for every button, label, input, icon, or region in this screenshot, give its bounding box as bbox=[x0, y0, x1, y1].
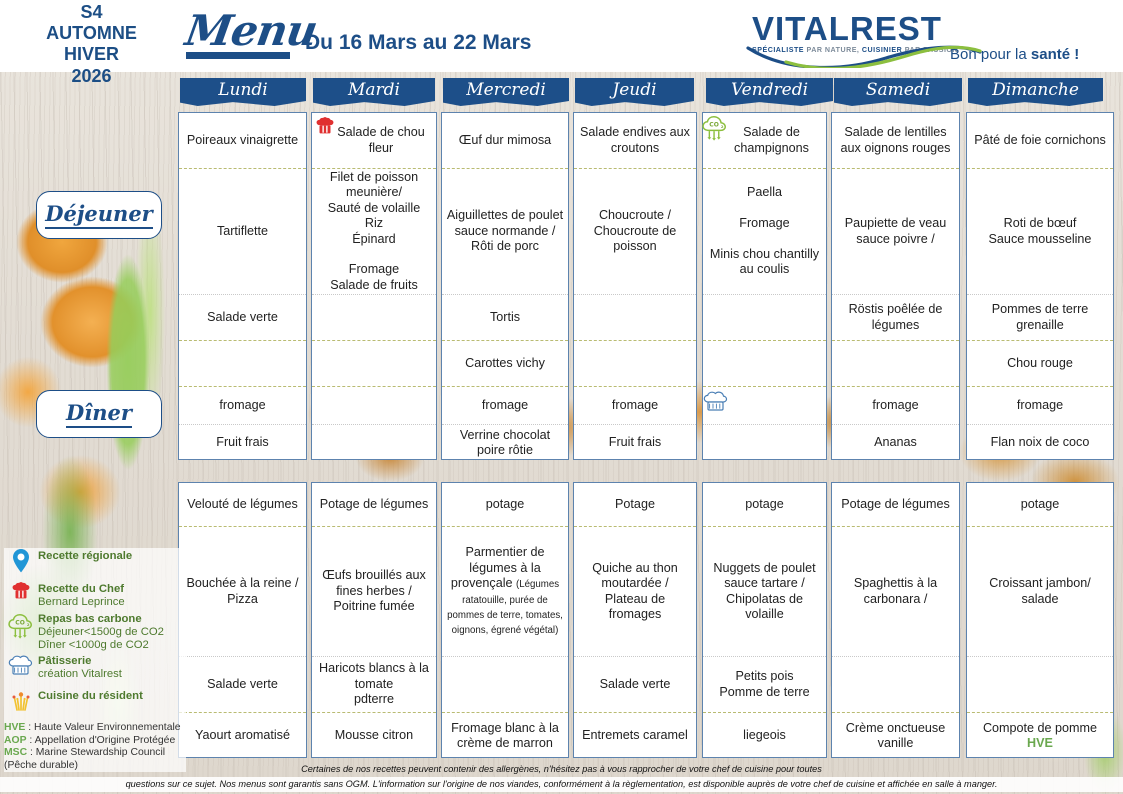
dinner-cell: Mousse citron bbox=[312, 713, 436, 759]
lunch-cell-text: Fruit frais bbox=[216, 435, 268, 450]
lunch-cell-text: Verrine chocolat poire rôtie bbox=[445, 428, 565, 459]
lunch-cell bbox=[312, 387, 436, 425]
lunch-cell: Œuf dur mimosa bbox=[442, 113, 568, 169]
pastry-icon bbox=[6, 668, 36, 685]
dinner-cell-text bbox=[503, 677, 507, 691]
dinner-cell: potage bbox=[442, 483, 568, 527]
season-line-4: 2026 bbox=[24, 66, 159, 87]
lunch-cell-text bbox=[633, 356, 637, 371]
legend-item-label: Pâtisseriecréation Vitalrest bbox=[38, 653, 122, 681]
lunch-cell-text: Fruit frais bbox=[609, 435, 661, 450]
lunch-cell-text bbox=[763, 356, 767, 371]
dinner-cell-text bbox=[1038, 677, 1042, 691]
co2-low-carbon-icon: CO 2 bbox=[5, 628, 37, 645]
dinner-cell bbox=[832, 657, 959, 713]
lunch-cell-text bbox=[372, 310, 376, 325]
day-header-samedi: Samedi bbox=[834, 78, 962, 106]
footer-line-1: Certaines de nos recettes peuvent conten… bbox=[0, 763, 1123, 776]
lunch-column-lundi: Poireaux vinaigretteTartifletteSalade ve… bbox=[178, 112, 307, 460]
lunch-cell: Paupiette de veau sauce poivre / bbox=[832, 169, 959, 295]
dinner-cell-text: Haricots blancs à la tomatepdterre bbox=[319, 661, 429, 706]
co2-low-carbon-icon-wrapper: CO 2 bbox=[4, 611, 38, 646]
page-title: Menu bbox=[182, 6, 320, 55]
lunch-cell-text: Pommes de terre grenaille bbox=[970, 302, 1110, 333]
dinner-cell-text: Bouchée à la reine / Pizza bbox=[186, 576, 298, 605]
date-range: Du 16 Mars au 22 Mars bbox=[305, 31, 531, 55]
day-header-mardi: Mardi bbox=[313, 78, 435, 106]
lunch-cell bbox=[312, 295, 436, 341]
tagline-plain: Bon pour la bbox=[950, 46, 1031, 63]
svg-text:CO: CO bbox=[709, 121, 719, 128]
resident-cooking-icon bbox=[8, 688, 34, 714]
dinner-cell: Potage de légumes bbox=[832, 483, 959, 527]
dinner-cell: potage bbox=[967, 483, 1113, 527]
lunch-cell: Filet de poisson meunière/Sauté de volai… bbox=[312, 169, 436, 295]
dinner-column-mardi: Potage de légumesŒufs brouillés aux fine… bbox=[311, 482, 437, 758]
dinner-cell-text: Crème onctueuse vanille bbox=[846, 721, 945, 750]
svg-text:2: 2 bbox=[27, 623, 30, 627]
lunch-cell-text bbox=[763, 435, 767, 450]
dinner-cell bbox=[442, 657, 568, 713]
lunch-cell-text bbox=[372, 435, 376, 450]
title-underline bbox=[186, 52, 290, 59]
dinner-cell-text: Salade verte bbox=[207, 677, 278, 691]
dinner-cell-text: Nuggets de poulet sauce tartare /Chipola… bbox=[713, 561, 815, 621]
dinner-cell: Potage bbox=[574, 483, 696, 527]
dinner-cell: Parmentier de légumes à la provençale (L… bbox=[442, 527, 568, 657]
dinner-cell: Salade verte bbox=[574, 657, 696, 713]
legend-abbreviation-key: AOP bbox=[4, 735, 27, 746]
lunch-cell-text: Tartiflette bbox=[217, 224, 268, 239]
meal-label-dinner-text: Dîner bbox=[66, 400, 132, 428]
lunch-cell bbox=[703, 295, 826, 341]
legend-item: Recette régionale bbox=[4, 548, 186, 579]
lunch-cell: fromage bbox=[442, 387, 568, 425]
dinner-cell: Entremets caramel bbox=[574, 713, 696, 759]
lunch-cell: Flan noix de coco bbox=[967, 425, 1113, 461]
lunch-cell-text: Salade verte bbox=[207, 310, 278, 325]
lunch-cell: Salade de chou fleur bbox=[312, 113, 436, 169]
dinner-cell: potage bbox=[703, 483, 826, 527]
season-line-2: AUTOMNE bbox=[24, 23, 159, 44]
lunch-cell-text: Chou rouge bbox=[1007, 356, 1073, 371]
legend-item: CO 2 Repas bas carboneDéjeuner<1500g de … bbox=[4, 611, 186, 652]
lunch-cell: Fruit frais bbox=[179, 425, 306, 461]
dinner-cell-text: Compote de pomme bbox=[983, 721, 1097, 735]
legend-abbreviation: AOP : Appellation d'Origine Protégée bbox=[4, 735, 186, 747]
lunch-cell-text: fromage bbox=[872, 398, 918, 413]
legend-abbreviation: HVE : Haute Valeur Environnementale bbox=[4, 722, 186, 734]
dinner-cell-text: Potage bbox=[615, 497, 655, 511]
lunch-cell-text: Flan noix de coco bbox=[991, 435, 1090, 450]
location-pin-icon bbox=[10, 548, 32, 574]
lunch-cell bbox=[179, 341, 306, 387]
vitalrest-logo: VITALREST SPÉCIALISTE PAR NATURE, CUISIN… bbox=[752, 12, 982, 62]
dinner-cell: Potage de légumes bbox=[312, 483, 436, 527]
dinner-cell: Croissant jambon/ salade bbox=[967, 527, 1113, 657]
lunch-cell: Carottes vichy bbox=[442, 341, 568, 387]
dinner-cell-text: Croissant jambon/ salade bbox=[989, 576, 1091, 605]
svg-text:2: 2 bbox=[721, 125, 724, 129]
dinner-cell: Velouté de légumes bbox=[179, 483, 306, 527]
dinner-cell-text: liegeois bbox=[743, 728, 786, 742]
lunch-cell: fromage bbox=[967, 387, 1113, 425]
dinner-cell: Spaghettis à la carbonara / bbox=[832, 527, 959, 657]
lunch-cell-text: Poireaux vinaigrette bbox=[187, 133, 298, 148]
dinner-cell-text: potage bbox=[1021, 497, 1060, 511]
day-header-vendredi: Vendredi bbox=[706, 78, 833, 106]
lunch-column-vendredi: CO 2 Salade de champignonsPaella Fromage… bbox=[702, 112, 827, 460]
dinner-cell: Crème onctueuse vanille bbox=[832, 713, 959, 759]
dinner-column-jeudi: PotageQuiche au thon moutardée /Plateau … bbox=[573, 482, 697, 758]
brand-tagline: Bon pour la santé ! bbox=[950, 46, 1079, 63]
chef-recipe-icon bbox=[10, 590, 32, 607]
dinner-cell-text: Yaourt aromatisé bbox=[195, 728, 290, 742]
svg-text:CO: CO bbox=[15, 619, 25, 626]
lunch-cell: Salade de lentilles aux oignons rouges bbox=[832, 113, 959, 169]
lunch-cell: Tartiflette bbox=[179, 169, 306, 295]
chef-recipe-icon bbox=[314, 116, 336, 142]
dinner-cell: liegeois bbox=[703, 713, 826, 759]
chef-recipe-icon-wrapper bbox=[4, 581, 38, 608]
tagline-bold: santé ! bbox=[1031, 46, 1079, 63]
lunch-cell bbox=[312, 425, 436, 461]
lunch-cell-text: Tortis bbox=[490, 310, 520, 325]
lunch-column-jeudi: Salade endives aux croutonsChoucroute /C… bbox=[573, 112, 697, 460]
dinner-cell-text: Quiche au thon moutardée /Plateau de fro… bbox=[592, 561, 677, 621]
day-header-mercredi: Mercredi bbox=[443, 78, 569, 106]
lunch-cell-text: Filet de poisson meunière/Sauté de volai… bbox=[315, 170, 433, 293]
lunch-cell: Chou rouge bbox=[967, 341, 1113, 387]
lunch-cell bbox=[574, 295, 696, 341]
dinner-column-mercredi: potageParmentier de légumes à la provenç… bbox=[441, 482, 569, 758]
season-block: S4 AUTOMNE HIVER 2026 bbox=[24, 2, 159, 87]
lunch-cell-text: fromage bbox=[482, 398, 528, 413]
lunch-cell bbox=[703, 341, 826, 387]
day-header-jeudi: Jeudi bbox=[575, 78, 694, 106]
lunch-cell: Paella Fromage Minis chou chantilly au c… bbox=[703, 169, 826, 295]
legend-abbreviation-key: MSC bbox=[4, 747, 27, 758]
dinner-cell-text: Mousse citron bbox=[335, 728, 413, 742]
dinner-cell-text: Entremets caramel bbox=[582, 728, 688, 742]
lunch-cell-text bbox=[372, 356, 376, 371]
lunch-cell bbox=[703, 425, 826, 461]
dinner-column-vendredi: potageNuggets de poulet sauce tartare /C… bbox=[702, 482, 827, 758]
lunch-cell-text: Salade endives aux croutons bbox=[577, 125, 693, 156]
dinner-cell-text bbox=[894, 677, 898, 691]
dinner-cell: Salade verte bbox=[179, 657, 306, 713]
lunch-cell-text bbox=[756, 398, 774, 413]
meal-label-dinner: Dîner bbox=[36, 390, 162, 438]
lunch-cell: fromage bbox=[574, 387, 696, 425]
legend-abbreviation-key: HVE bbox=[4, 722, 25, 733]
dinner-column-lundi: Velouté de légumesBouchée à la reine / P… bbox=[178, 482, 307, 758]
day-header-dimanche: Dimanche bbox=[968, 78, 1103, 106]
lunch-cell-text: Œuf dur mimosa bbox=[459, 133, 551, 148]
lunch-cell bbox=[832, 341, 959, 387]
lunch-cell: Ananas bbox=[832, 425, 959, 461]
lunch-cell-text: Ananas bbox=[874, 435, 917, 450]
lunch-cell: fromage bbox=[832, 387, 959, 425]
footer-line-2: questions sur ce sujet. Nos menus sont g… bbox=[0, 777, 1123, 792]
dinner-cell-text: Potage de légumes bbox=[320, 497, 429, 511]
dinner-cell-text: Petits poisPomme de terre bbox=[719, 669, 809, 698]
lunch-cell-text bbox=[633, 310, 637, 325]
lunch-cell-text: Roti de bœufSauce mousseline bbox=[989, 216, 1092, 247]
resident-cooking-icon-wrapper bbox=[4, 688, 38, 719]
legend-abbreviation-text: : Appellation d'Origine Protégée bbox=[27, 735, 176, 746]
dinner-cell-text: Velouté de légumes bbox=[187, 497, 298, 511]
lunch-cell: Röstis poêlée de légumes bbox=[832, 295, 959, 341]
lunch-cell: Salade verte bbox=[179, 295, 306, 341]
dinner-cell-text: Œufs brouillés aux fines herbes /Poitrin… bbox=[322, 568, 426, 613]
dinner-cell-text: Fromage blanc à la crème de marron bbox=[451, 721, 559, 750]
legend-items: Recette régionale Recette du ChefBernard… bbox=[4, 548, 186, 719]
dinner-cell-text: Salade verte bbox=[600, 677, 671, 691]
lunch-cell-text: Paupiette de veau sauce poivre / bbox=[835, 216, 956, 247]
lunch-cell: Roti de bœufSauce mousseline bbox=[967, 169, 1113, 295]
legend-item-label: Recette du ChefBernard Leprince bbox=[38, 581, 125, 609]
day-header-lundi: Lundi bbox=[180, 78, 306, 106]
lunch-cell-text: Salade de lentilles aux oignons rouges bbox=[835, 125, 956, 156]
lunch-cell-text bbox=[894, 356, 898, 371]
legend-panel: Recette régionale Recette du ChefBernard… bbox=[4, 548, 186, 772]
lunch-cell: Verrine chocolat poire rôtie bbox=[442, 425, 568, 461]
dinner-cell: Yaourt aromatisé bbox=[179, 713, 306, 759]
lunch-cell-text: Paella Fromage Minis chou chantilly au c… bbox=[706, 185, 823, 277]
dinner-column-dimanche: potageCroissant jambon/ salade Compote d… bbox=[966, 482, 1114, 758]
dinner-cell bbox=[967, 657, 1113, 713]
location-pin-icon-wrapper bbox=[4, 548, 38, 579]
pastry-icon bbox=[701, 389, 731, 421]
lunch-cell-text: Röstis poêlée de légumes bbox=[835, 302, 956, 333]
lunch-column-dimanche: Pâté de foie cornichonsRoti de bœufSauce… bbox=[966, 112, 1114, 460]
lunch-cell bbox=[703, 387, 826, 425]
lunch-cell-text: Carottes vichy bbox=[465, 356, 545, 371]
dinner-cell: Fromage blanc à la crème de marron bbox=[442, 713, 568, 759]
co2-low-carbon-icon: CO 2 bbox=[699, 113, 731, 147]
legend-item-label: Repas bas carboneDéjeuner<1500g de CO2Dî… bbox=[38, 611, 164, 652]
swoosh-icon bbox=[746, 42, 982, 68]
lunch-cell: Choucroute /Choucroute de poisson bbox=[574, 169, 696, 295]
lunch-cell: fromage bbox=[179, 387, 306, 425]
lunch-cell-text: Choucroute /Choucroute de poisson bbox=[577, 208, 693, 254]
season-line-1: S4 bbox=[24, 2, 159, 23]
lunch-column-mercredi: Œuf dur mimosaAiguillettes de poulet sau… bbox=[441, 112, 569, 460]
footer-note: Certaines de nos recettes peuvent conten… bbox=[0, 763, 1123, 792]
season-line-3: HIVER bbox=[24, 44, 159, 65]
lunch-cell-text bbox=[372, 398, 376, 413]
legend-item-label: Recette régionale bbox=[38, 548, 132, 563]
dinner-cell: Œufs brouillés aux fines herbes /Poitrin… bbox=[312, 527, 436, 657]
dinner-cell-text: potage bbox=[486, 497, 525, 511]
legend-item: Recette du ChefBernard Leprince bbox=[4, 581, 186, 609]
legend-abbreviation-text: : Haute Valeur Environnementale bbox=[25, 722, 180, 733]
dinner-cell: Quiche au thon moutardée /Plateau de fro… bbox=[574, 527, 696, 657]
lunch-cell: Pâté de foie cornichons bbox=[967, 113, 1113, 169]
meal-label-lunch-text: Déjeuner bbox=[45, 201, 153, 229]
hve-label: HVE bbox=[1027, 736, 1053, 750]
lunch-column-mardi: Salade de chou fleurFilet de poisson meu… bbox=[311, 112, 437, 460]
dinner-column-samedi: Potage de légumesSpaghettis à la carbona… bbox=[831, 482, 960, 758]
dinner-cell: Compote de pomme HVE bbox=[967, 713, 1113, 759]
legend-item: Pâtisseriecréation Vitalrest bbox=[4, 653, 186, 686]
legend-item: Cuisine du résident bbox=[4, 688, 186, 719]
dinner-cell: Bouchée à la reine / Pizza bbox=[179, 527, 306, 657]
lunch-cell: Poireaux vinaigrette bbox=[179, 113, 306, 169]
dinner-cell: Petits poisPomme de terre bbox=[703, 657, 826, 713]
lunch-cell-text: Aiguillettes de poulet sauce normande /R… bbox=[445, 208, 565, 254]
lunch-cell: Fruit frais bbox=[574, 425, 696, 461]
lunch-cell-text: fromage bbox=[219, 398, 265, 413]
lunch-cell: Aiguillettes de poulet sauce normande /R… bbox=[442, 169, 568, 295]
lunch-cell: Pommes de terre grenaille bbox=[967, 295, 1113, 341]
dinner-cell: Haricots blancs à la tomatepdterre bbox=[312, 657, 436, 713]
logo-wordmark: VITALREST bbox=[752, 12, 982, 45]
lunch-cell-text: fromage bbox=[1017, 398, 1063, 413]
dinner-cell-text: Spaghettis à la carbonara / bbox=[854, 576, 937, 605]
pastry-icon-wrapper bbox=[4, 653, 38, 686]
lunch-cell bbox=[312, 341, 436, 387]
dinner-cell-text: Potage de légumes bbox=[841, 497, 950, 511]
lunch-column-samedi: Salade de lentilles aux oignons rougesPa… bbox=[831, 112, 960, 460]
legend-item-label: Cuisine du résident bbox=[38, 688, 143, 703]
dinner-cell-text: potage bbox=[745, 497, 784, 511]
lunch-cell-text bbox=[763, 310, 767, 325]
lunch-cell-text: Pâté de foie cornichons bbox=[974, 133, 1106, 148]
lunch-cell: CO 2 Salade de champignons bbox=[703, 113, 826, 169]
lunch-cell: Salade endives aux croutons bbox=[574, 113, 696, 169]
lunch-cell: Tortis bbox=[442, 295, 568, 341]
meal-label-lunch: Déjeuner bbox=[36, 191, 162, 239]
lunch-cell bbox=[574, 341, 696, 387]
lunch-cell-text: fromage bbox=[612, 398, 658, 413]
page-header: S4 AUTOMNE HIVER 2026 Menu Du 16 Mars au… bbox=[0, 0, 1123, 72]
dinner-cell: Nuggets de poulet sauce tartare /Chipola… bbox=[703, 527, 826, 657]
lunch-cell-text bbox=[241, 356, 245, 371]
